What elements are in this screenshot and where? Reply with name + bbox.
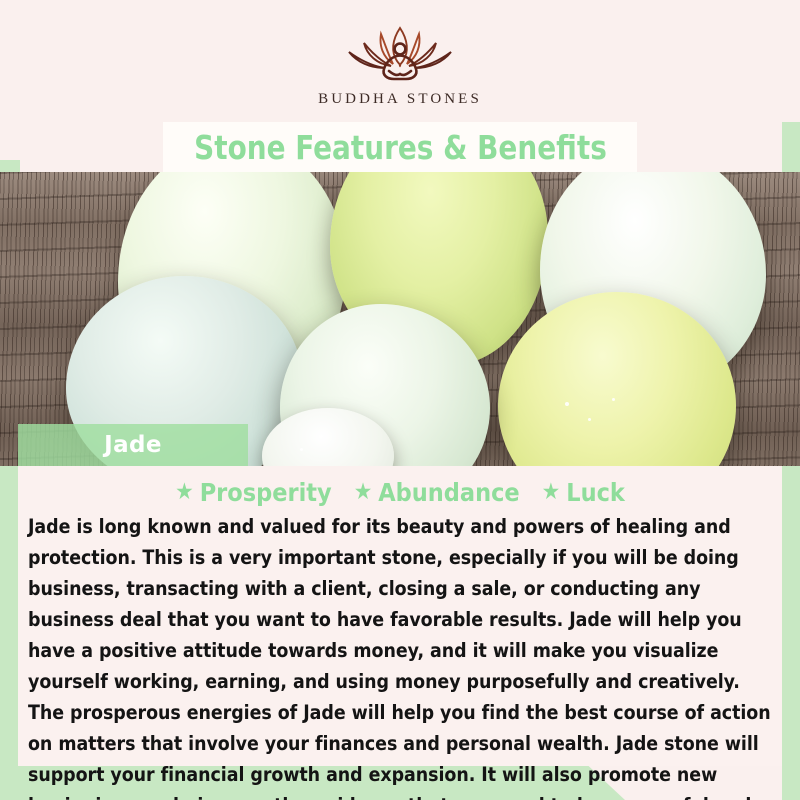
sparkle [612, 398, 615, 401]
benefits-row: ★ Prosperity ★ Abundance ★ Luck [22, 478, 778, 507]
stone-description: Jade is long known and valued for its be… [22, 511, 778, 800]
decorative-band-bottom-right [782, 758, 800, 800]
brand-name: BUDDHA STONES [318, 91, 482, 108]
stone-info-card: BUDDHA STONES Stone Features & Benefits … [0, 0, 800, 800]
page-title: Stone Features & Benefits [194, 128, 607, 167]
jade-stones-photo [0, 172, 800, 466]
stone-name: Jade [104, 432, 162, 458]
sparkle [588, 418, 591, 421]
sparkle [565, 402, 569, 406]
brand-header: BUDDHA STONES [0, 0, 800, 122]
star-icon: ★ [354, 481, 373, 504]
star-icon: ★ [542, 481, 561, 504]
benefit-label: Abundance [378, 478, 519, 507]
star-icon: ★ [175, 481, 194, 504]
stone-name-label: Jade [18, 424, 248, 466]
hero-image [0, 172, 800, 466]
benefit-label: Prosperity [200, 478, 332, 507]
sparkle [300, 448, 303, 451]
content-panel: ★ Prosperity ★ Abundance ★ Luck Jade is … [18, 466, 782, 766]
benefit-item: ★ Prosperity [175, 478, 332, 507]
benefit-item: ★ Luck [542, 478, 625, 507]
title-banner: Stone Features & Benefits [163, 122, 637, 172]
lotus-meditation-icon [337, 22, 463, 84]
benefit-item: ★ Abundance [354, 478, 520, 507]
benefit-label: Luck [566, 478, 625, 507]
